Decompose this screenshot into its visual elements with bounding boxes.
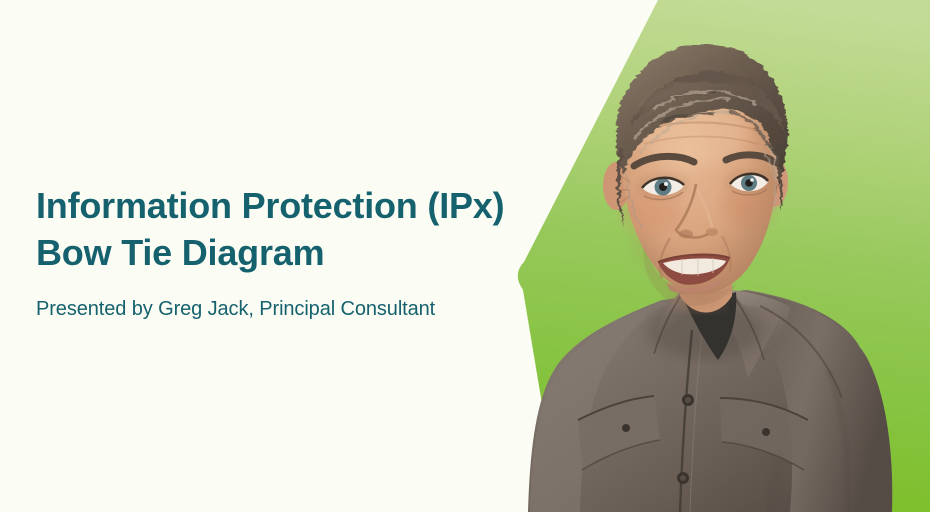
title-slide: Information Protection (IPx) Bow Tie Dia… xyxy=(0,0,930,512)
page-title: Information Protection (IPx) Bow Tie Dia… xyxy=(36,182,556,276)
slide-text-block: Information Protection (IPx) Bow Tie Dia… xyxy=(36,182,556,322)
slide-subtitle: Presented by Greg Jack, Principal Consul… xyxy=(36,296,556,322)
